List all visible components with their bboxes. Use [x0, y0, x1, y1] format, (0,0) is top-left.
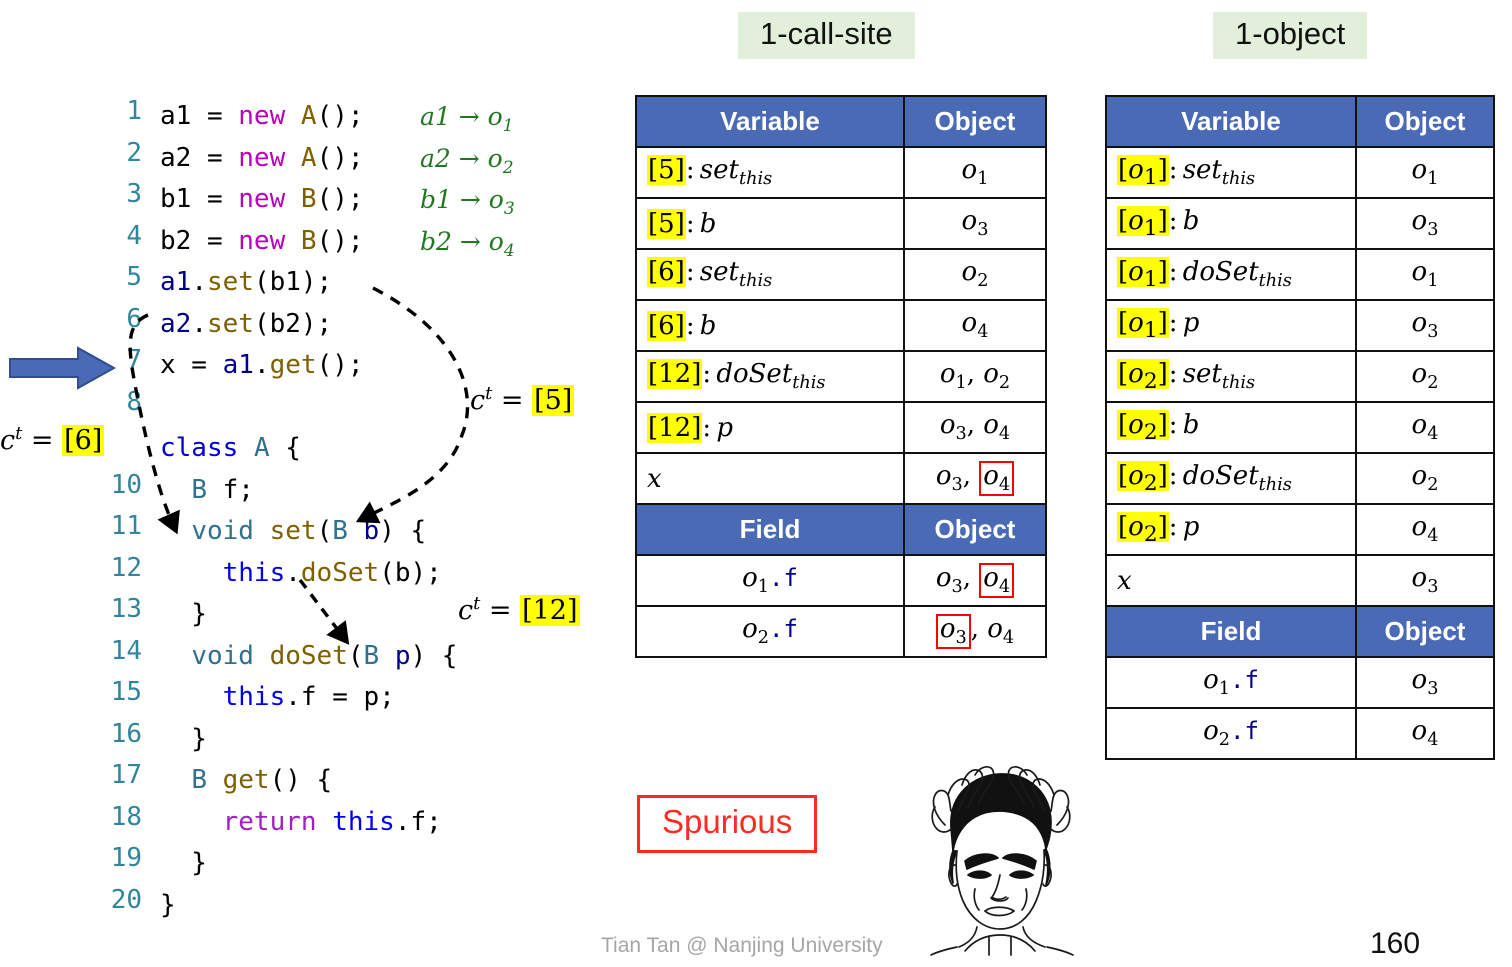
code-token: x =	[160, 350, 223, 380]
code-token: (	[317, 516, 333, 546]
table-row: [5]: bo3	[636, 198, 1046, 249]
code-token	[160, 765, 191, 795]
code-token: doSet	[301, 558, 379, 588]
table-row: [o1]: setthiso1	[1106, 147, 1494, 198]
table-row: o1.fo3, o4	[636, 555, 1046, 606]
code-token: .	[285, 558, 301, 588]
context-label-12: ct = [12]	[458, 593, 580, 626]
context-label-6: ct = [6]	[0, 423, 104, 456]
table-row: [12]: po3, o4	[636, 402, 1046, 453]
code-token	[254, 516, 270, 546]
object-cell: o4	[1356, 402, 1494, 453]
code-line-number: 4	[108, 221, 142, 251]
code-token: new	[238, 101, 285, 131]
table-row: [6]: setthiso2	[636, 249, 1046, 300]
variable-cell: [o1]: b	[1106, 198, 1356, 249]
field-object-column-header: Object	[1356, 606, 1494, 657]
context-tag: [6]	[647, 257, 686, 287]
variable-cell: [6]: b	[636, 300, 904, 351]
table-row: xo3	[1106, 555, 1494, 606]
code-token: ();	[317, 143, 364, 173]
code-token: this	[223, 682, 286, 712]
code-line-number: 8	[108, 387, 142, 417]
object-cell: o1, o2	[904, 351, 1046, 402]
code-token	[160, 807, 223, 837]
code-line-number: 15	[108, 677, 142, 707]
code-token: f;	[410, 807, 441, 837]
points-to-table: VariableObject[5]: setthiso1[5]: bo3[6]:…	[635, 95, 1047, 658]
context-tag: [o2]	[1117, 359, 1169, 389]
variable-cell: [12]: doSetthis	[636, 351, 904, 402]
code-token: f;	[207, 475, 254, 505]
table-row: o1.fo3	[1106, 657, 1494, 708]
code-token: this	[332, 807, 395, 837]
code-token: ();	[317, 350, 364, 380]
variable-column-header: Variable	[1106, 96, 1356, 147]
context-tag: [5]	[647, 209, 686, 239]
variable-cell: [o1]: setthis	[1106, 147, 1356, 198]
field-column-header: Field	[636, 504, 904, 555]
context-tag: [12]	[647, 413, 702, 443]
code-token: = p;	[317, 682, 395, 712]
table-title-object: 1-object	[1213, 12, 1367, 59]
table-row: [o1]: bo3	[1106, 198, 1494, 249]
confused-face-image	[905, 765, 1090, 955]
code-token: ();	[317, 101, 364, 131]
code-token	[317, 807, 333, 837]
code-token: (b);	[379, 558, 442, 588]
code-line: B get() {	[160, 760, 332, 802]
table-row: [12]: doSetthiso1, o2	[636, 351, 1046, 402]
points-to-annotation: a1 → o1	[420, 96, 514, 138]
variable-cell: x	[1106, 555, 1356, 606]
code-token: a2 =	[160, 143, 238, 173]
object-cell: o2	[1356, 351, 1494, 402]
points-to-annotation: b1 → o3	[420, 179, 515, 221]
code-line: a2.set(b2);	[160, 304, 332, 346]
code-token	[160, 516, 191, 546]
object-cell: o3	[1356, 555, 1494, 606]
code-token	[379, 641, 395, 671]
code-token: set	[207, 309, 254, 339]
variable-cell: [5]: b	[636, 198, 904, 249]
table-header-row: VariableObject	[1106, 96, 1494, 147]
context-tag: [o1]	[1117, 206, 1169, 236]
code-token: new	[238, 143, 285, 173]
code-token: }	[160, 890, 176, 920]
code-token: get	[270, 350, 317, 380]
code-token: (	[348, 641, 364, 671]
points-to-table: VariableObject[o1]: setthiso1[o1]: bo3[o…	[1105, 95, 1495, 760]
table-header-row: VariableObject	[636, 96, 1046, 147]
table-header-row: FieldObject	[1106, 606, 1494, 657]
code-token: new	[238, 226, 285, 256]
code-token	[285, 101, 301, 131]
variable-cell: [12]: p	[636, 402, 904, 453]
context-tag: [o2]	[1117, 461, 1169, 491]
object-cell: o4	[1356, 504, 1494, 555]
code-line-number: 10	[108, 470, 142, 500]
code-line: void doSet(B p) {	[160, 636, 457, 678]
code-token: get	[223, 765, 270, 795]
code-line: b1 = new B();	[160, 179, 364, 221]
code-line-number: 6	[108, 304, 142, 334]
code-line-number: 12	[108, 553, 142, 583]
code-token	[238, 433, 254, 463]
code-line: this.doSet(b);	[160, 553, 442, 595]
table-header-row: FieldObject	[636, 504, 1046, 555]
code-token	[160, 641, 191, 671]
table-row: xo3, o4	[636, 453, 1046, 504]
code-token: a1 =	[160, 101, 238, 131]
code-line-number: 17	[108, 760, 142, 790]
variable-cell: [o2]: doSetthis	[1106, 453, 1356, 504]
code-listing: 1a1 = new A();a1 → o12a2 = new A();a2 → …	[0, 96, 630, 936]
code-token: f	[301, 682, 317, 712]
object-cell: o3	[1356, 657, 1494, 708]
object-column-header: Object	[1356, 96, 1494, 147]
code-token: b2 =	[160, 226, 238, 256]
code-token: doSet	[270, 641, 348, 671]
points-to-annotation: b2 → o4	[420, 221, 515, 263]
code-line: a1.set(b1);	[160, 262, 332, 304]
code-token: return	[223, 807, 317, 837]
table-row: [6]: bo4	[636, 300, 1046, 351]
object-cell: o4	[1356, 708, 1494, 759]
context-tag: [o1]	[1117, 155, 1169, 185]
context-value-12: [12]	[520, 595, 579, 626]
code-token: .	[285, 682, 301, 712]
context-tag: [5]	[647, 155, 686, 185]
context-value-5: [5]	[532, 385, 574, 416]
code-token: set	[207, 267, 254, 297]
code-line-number: 19	[108, 843, 142, 873]
code-line: class A {	[160, 428, 301, 470]
field-cell: o1.f	[1106, 657, 1356, 708]
code-token	[207, 765, 223, 795]
code-line: return this.f;	[160, 802, 442, 844]
context-tag: [6]	[647, 311, 686, 341]
object-column-header: Object	[904, 96, 1046, 147]
code-line-number: 18	[108, 802, 142, 832]
code-line-number: 16	[108, 719, 142, 749]
object-cell: o1	[1356, 147, 1494, 198]
code-token: .	[395, 807, 411, 837]
object-cell: o3	[904, 198, 1046, 249]
code-line-number: 3	[108, 179, 142, 209]
code-token: class	[160, 433, 238, 463]
code-line: }	[160, 843, 207, 885]
variable-cell: [o2]: setthis	[1106, 351, 1356, 402]
code-token	[285, 143, 301, 173]
code-line-number: 13	[108, 594, 142, 624]
code-token	[160, 475, 191, 505]
code-token: p	[395, 641, 411, 671]
table-row: [o2]: po4	[1106, 504, 1494, 555]
code-token: ();	[317, 226, 364, 256]
variable-cell: [o2]: b	[1106, 402, 1356, 453]
code-line-number: 1	[108, 96, 142, 126]
variable-cell: [5]: setthis	[636, 147, 904, 198]
code-token: a1	[223, 350, 254, 380]
code-token: (b2);	[254, 309, 332, 339]
code-token: }	[160, 848, 207, 878]
field-cell: o1.f	[636, 555, 904, 606]
code-line-number: 14	[108, 636, 142, 666]
context-tag: [o1]	[1117, 257, 1169, 287]
points-to-annotation: a2 → o2	[420, 138, 514, 180]
table-row: [5]: setthiso1	[636, 147, 1046, 198]
code-token: B	[332, 516, 348, 546]
code-token	[160, 682, 223, 712]
code-token	[254, 641, 270, 671]
highlighted-object: o4	[979, 461, 1014, 497]
highlighted-object: o4	[979, 563, 1014, 599]
slide-root: 1a1 = new A();a1 → o12a2 = new A();a2 → …	[0, 0, 1512, 967]
table-row: [o1]: po3	[1106, 300, 1494, 351]
highlighted-object: o3	[936, 614, 971, 650]
code-line-number: 7	[108, 345, 142, 375]
code-token: A	[301, 143, 317, 173]
table-row: o2.fo4	[1106, 708, 1494, 759]
variable-cell: [o1]: doSetthis	[1106, 249, 1356, 300]
code-line-number: 11	[108, 511, 142, 541]
code-line-number: 2	[108, 138, 142, 168]
code-line-number: 5	[108, 262, 142, 292]
variable-column-header: Variable	[636, 96, 904, 147]
table-title-call-site: 1-call-site	[738, 12, 915, 59]
code-token: B	[301, 184, 317, 214]
code-token: b1 =	[160, 184, 238, 214]
code-line-number: 20	[108, 885, 142, 915]
field-object-column-header: Object	[904, 504, 1046, 555]
object-cell: o1	[1356, 249, 1494, 300]
code-token	[160, 558, 223, 588]
code-token: a1	[160, 267, 191, 297]
code-token: A	[254, 433, 270, 463]
code-token: }	[160, 599, 207, 629]
code-line: this.f = p;	[160, 677, 395, 719]
code-token: }	[160, 724, 207, 754]
context-tag: [o2]	[1117, 512, 1169, 542]
object-cell: o2	[904, 249, 1046, 300]
context-tag: [o1]	[1117, 308, 1169, 338]
code-line: }	[160, 885, 176, 927]
code-token: void	[191, 516, 254, 546]
table-row: [o2]: doSetthiso2	[1106, 453, 1494, 504]
code-line: void set(B b) {	[160, 511, 426, 553]
code-line: }	[160, 594, 207, 636]
code-token: .	[254, 350, 270, 380]
field-column-header: Field	[1106, 606, 1356, 657]
footer-credit: Tian Tan @ Nanjing University	[601, 934, 883, 958]
object-cell: o3, o4	[904, 555, 1046, 606]
context-value-6: [6]	[62, 425, 104, 456]
context-tag: [o2]	[1117, 410, 1169, 440]
code-token: .	[191, 309, 207, 339]
object-cell: o2	[1356, 453, 1494, 504]
code-token: this	[223, 558, 286, 588]
page-number: 160	[1370, 927, 1420, 961]
code-token: (b1);	[254, 267, 332, 297]
variable-cell: [6]: setthis	[636, 249, 904, 300]
table-row: [o2]: setthiso2	[1106, 351, 1494, 402]
code-token: b	[364, 516, 380, 546]
context-tag: [12]	[647, 359, 702, 389]
code-token: a2	[160, 309, 191, 339]
object-cell: o3, o4	[904, 402, 1046, 453]
code-token: B	[191, 765, 207, 795]
table-row: o2.fo3, o4	[636, 606, 1046, 657]
object-cell: o4	[904, 300, 1046, 351]
code-token: new	[238, 184, 285, 214]
code-line: a1 = new A();	[160, 96, 364, 138]
code-token	[285, 184, 301, 214]
code-token: ) {	[379, 516, 426, 546]
code-token: B	[191, 475, 207, 505]
spurious-callout: Spurious	[637, 795, 817, 853]
field-cell: o2.f	[1106, 708, 1356, 759]
table-row: [o2]: bo4	[1106, 402, 1494, 453]
variable-cell: [o2]: p	[1106, 504, 1356, 555]
code-line: B f;	[160, 470, 254, 512]
context-label-5: ct = [5]	[470, 383, 574, 416]
object-cell: o3	[1356, 300, 1494, 351]
object-cell: o1	[904, 147, 1046, 198]
variable-cell: x	[636, 453, 904, 504]
field-cell: o2.f	[636, 606, 904, 657]
code-token: A	[301, 101, 317, 131]
code-token: () {	[270, 765, 333, 795]
code-token: set	[270, 516, 317, 546]
code-line: x = a1.get();	[160, 345, 364, 387]
code-line: a2 = new A();	[160, 138, 364, 180]
code-token: .	[191, 267, 207, 297]
code-token: void	[191, 641, 254, 671]
code-token: B	[301, 226, 317, 256]
object-cell: o3, o4	[904, 453, 1046, 504]
object-cell: o3	[1356, 198, 1494, 249]
variable-cell: [o1]: p	[1106, 300, 1356, 351]
code-token: {	[270, 433, 301, 463]
code-token: B	[364, 641, 380, 671]
code-line: b2 = new B();	[160, 221, 364, 263]
code-token: ) {	[411, 641, 458, 671]
object-cell: o3, o4	[904, 606, 1046, 657]
code-line: }	[160, 719, 207, 761]
code-token	[348, 516, 364, 546]
table-row: [o1]: doSetthiso1	[1106, 249, 1494, 300]
code-token: ();	[317, 184, 364, 214]
code-token	[285, 226, 301, 256]
